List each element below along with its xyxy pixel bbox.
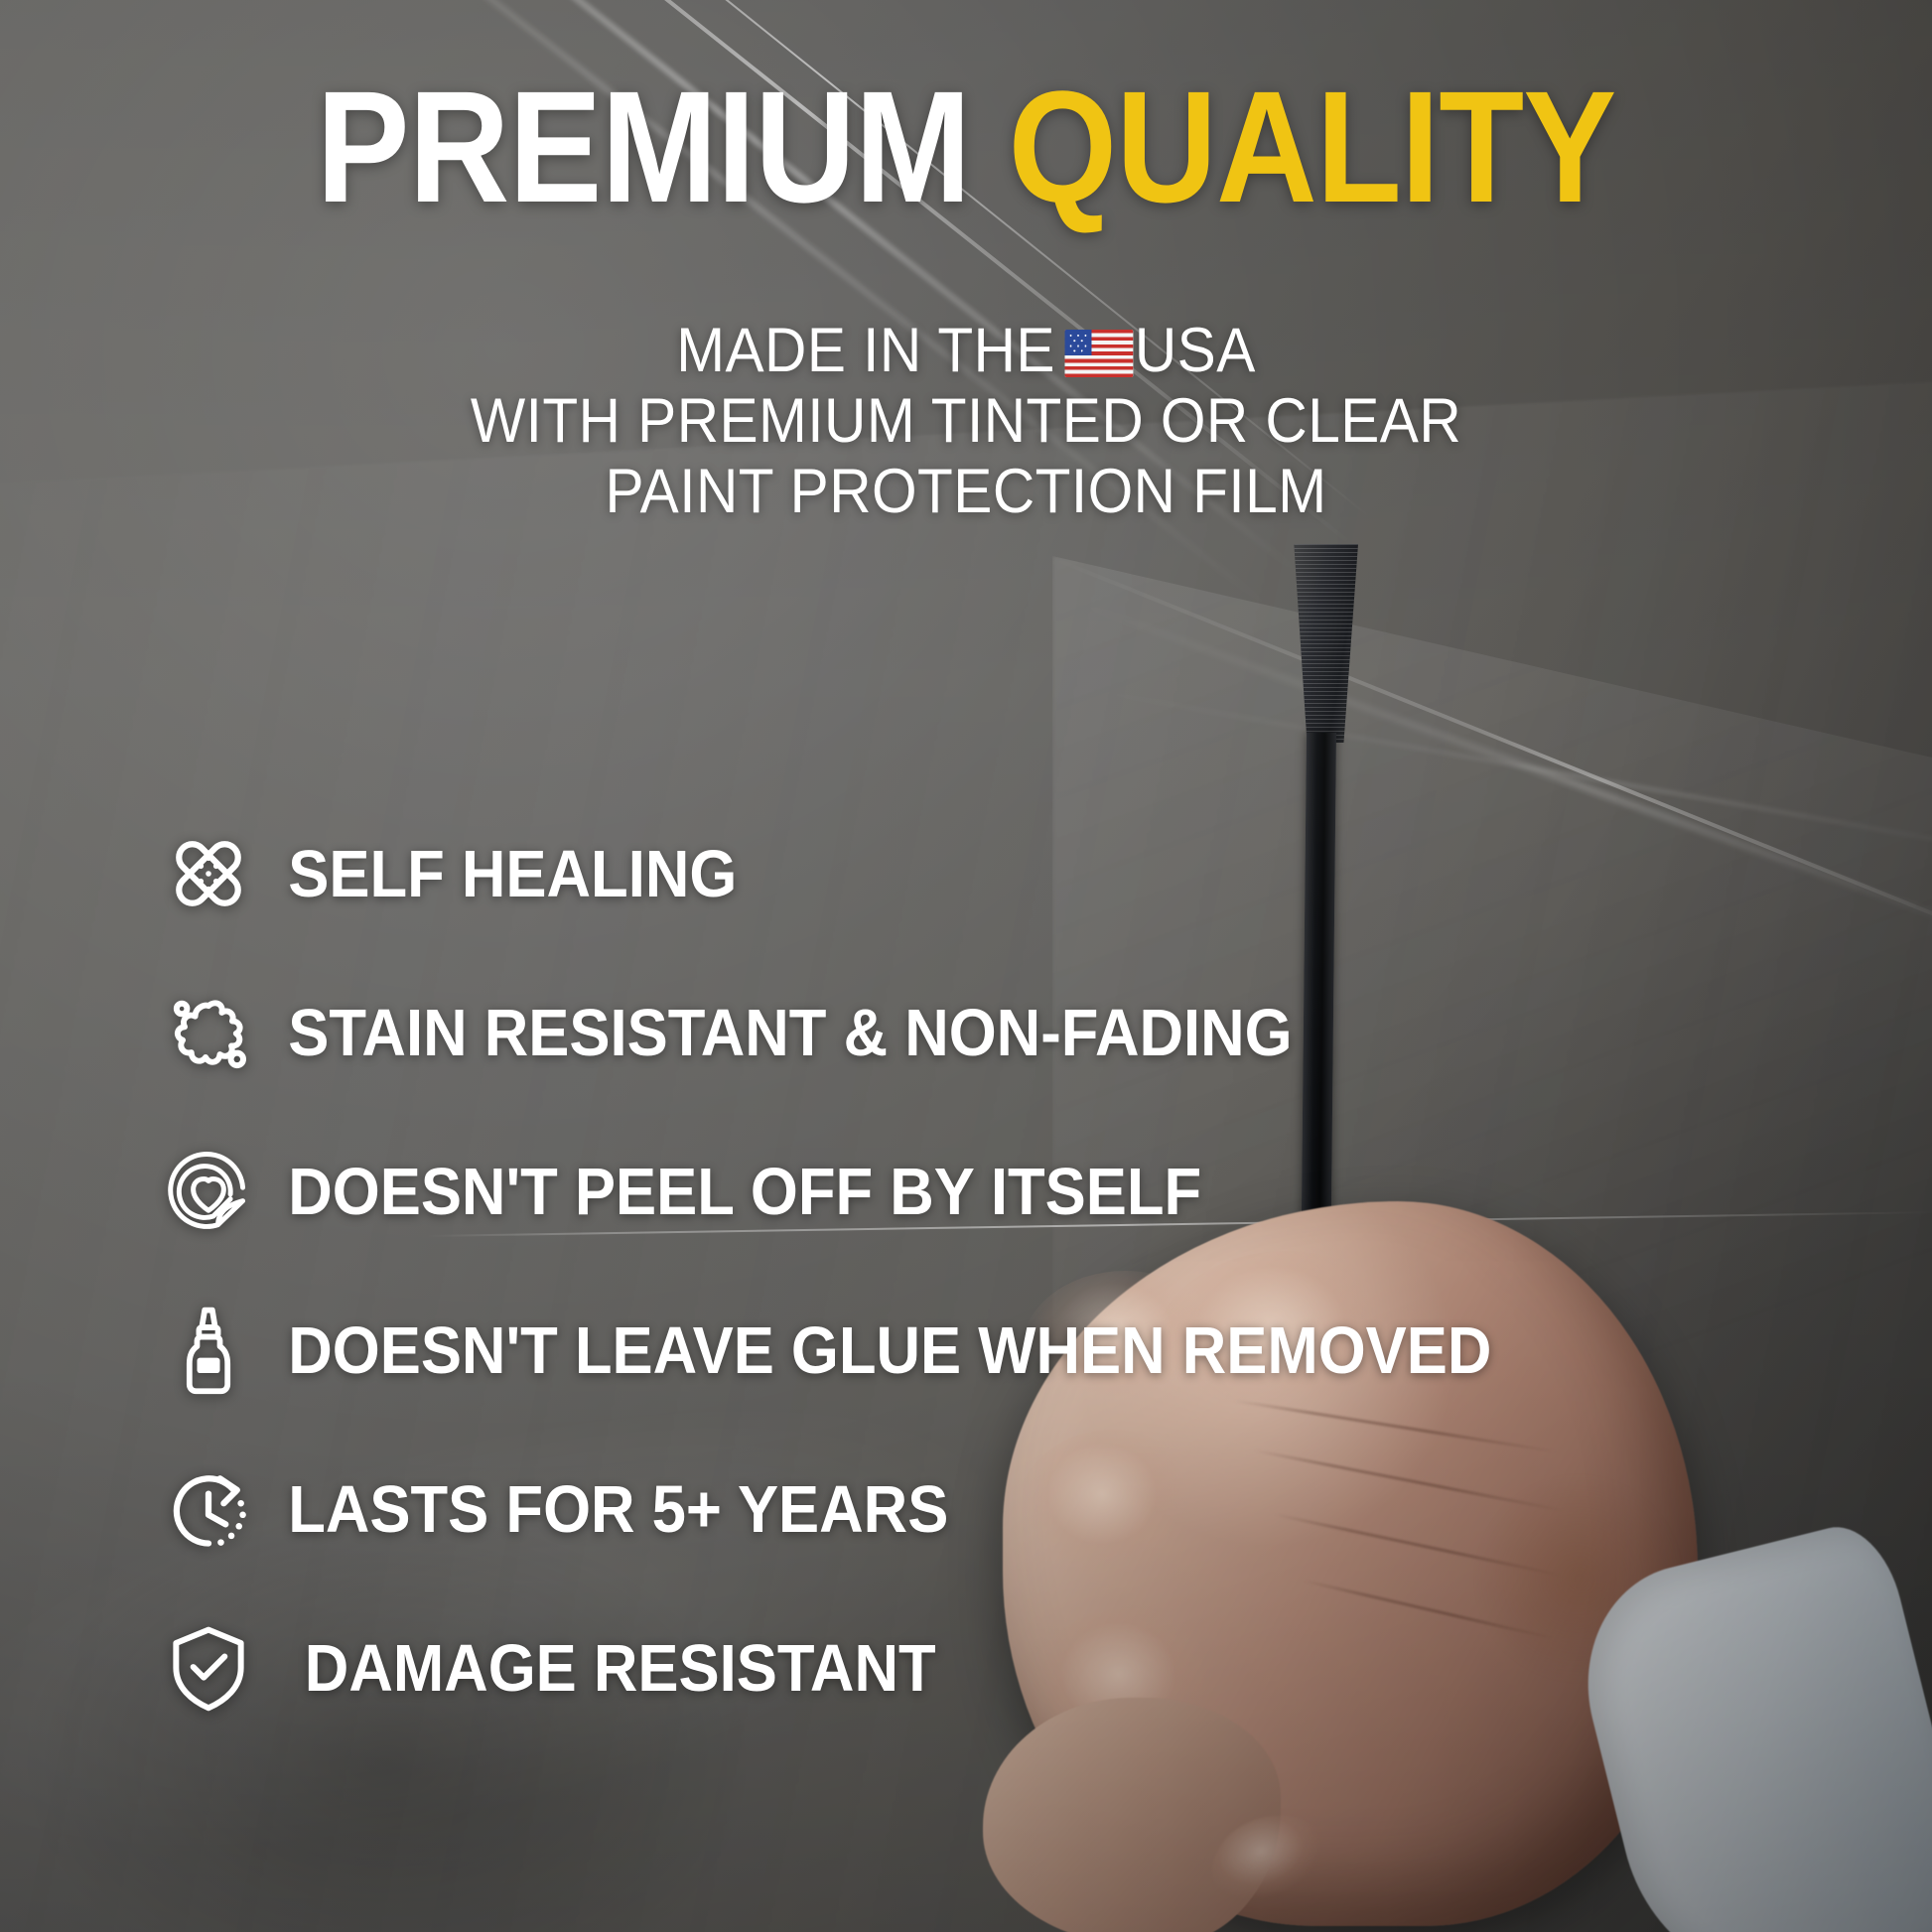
- title-word-premium: PREMIUM: [317, 58, 971, 235]
- shield-check-icon: [149, 1611, 268, 1725]
- glue-bottle-icon: [149, 1294, 268, 1408]
- feature-item: DOESN'T LEAVE GLUE WHEN REMOVED: [149, 1271, 1837, 1430]
- feature-item: STAIN RESISTANT & NON-FADING: [149, 953, 1837, 1112]
- peel-sticker-heart-icon: [149, 1135, 268, 1249]
- page-title: PREMIUM QUALITY: [116, 68, 1816, 226]
- promo-graphic: PREMIUM QUALITY MADE IN THEUSA WITH PREM…: [0, 0, 1932, 1932]
- title-word-quality: QUALITY: [1009, 58, 1616, 235]
- feature-item: DAMAGE RESISTANT: [149, 1588, 1837, 1747]
- feature-label: SELF HEALING: [268, 841, 737, 907]
- overlay-content: PREMIUM QUALITY MADE IN THEUSA WITH PREM…: [0, 0, 1932, 1932]
- feature-label: STAIN RESISTANT & NON-FADING: [268, 1000, 1293, 1066]
- subtitle-usa: USA: [1135, 316, 1256, 385]
- subtitle-line-3: PAINT PROTECTION FILM: [68, 457, 1864, 527]
- stain-splat-icon: [149, 976, 268, 1090]
- feature-label: LASTS FOR 5+ YEARS: [268, 1476, 948, 1543]
- feature-label: DOESN'T PEEL OFF BY ITSELF: [268, 1159, 1201, 1225]
- flag-canton: [1064, 330, 1092, 355]
- feature-list: SELF HEALING STAIN RESISTANT & NON-FADIN…: [149, 794, 1837, 1747]
- subtitle-line-1: MADE IN THEUSA: [68, 316, 1864, 386]
- clock-rotate-icon: [149, 1452, 268, 1567]
- subtitle-line-2: WITH PREMIUM TINTED OR CLEAR: [68, 386, 1864, 457]
- us-flag-icon: [1064, 330, 1133, 377]
- feature-label: DOESN'T LEAVE GLUE WHEN REMOVED: [268, 1317, 1491, 1384]
- feature-item: LASTS FOR 5+ YEARS: [149, 1430, 1837, 1588]
- feature-item: DOESN'T PEEL OFF BY ITSELF: [149, 1112, 1837, 1271]
- subtitle-made-in-the: MADE IN THE: [676, 316, 1055, 385]
- feature-item: SELF HEALING: [149, 794, 1837, 953]
- bandage-cross-icon: [149, 817, 268, 931]
- feature-label: DAMAGE RESISTANT: [268, 1635, 936, 1702]
- subtitle-block: MADE IN THEUSA WITH PREMIUM TINTED OR CL…: [68, 316, 1864, 528]
